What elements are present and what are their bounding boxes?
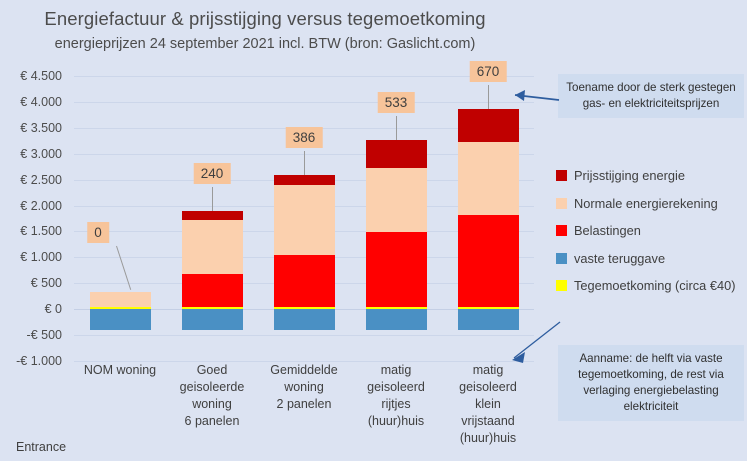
legend-swatch-icon — [556, 253, 567, 264]
x-axis-category-label: NOM woning — [68, 362, 172, 379]
y-axis-tick-label: € 3.000 — [20, 147, 62, 161]
y-axis-tick-label: € 3.500 — [20, 121, 62, 135]
y-axis-tick-label: € 2.500 — [20, 173, 62, 187]
x-axis-category-label: matiggeisoleerdkleinvrijstaand(huur)huis — [436, 362, 540, 447]
bar-segment — [182, 220, 243, 273]
x-axis-category-label: Gemiddeldewoning2 panelen — [252, 362, 356, 413]
bar-column — [90, 76, 151, 361]
y-axis-tick-label: € 4.500 — [20, 69, 62, 83]
category-label-line: 6 panelen — [160, 413, 264, 430]
category-label-line: geisoleerd — [436, 379, 540, 396]
y-axis-tick-label: € 4.000 — [20, 95, 62, 109]
bar-series-area — [74, 76, 534, 361]
legend-item[interactable]: Belastingen — [556, 223, 746, 238]
chart-subtitle: energieprijzen 24 september 2021 incl. B… — [0, 36, 530, 52]
data-label-callout: 240 — [194, 163, 231, 184]
legend-item-label: Normale energierekening — [574, 196, 718, 211]
legend-swatch-icon — [556, 280, 567, 291]
y-axis-labels: € 4.500€ 4.000€ 3.500€ 3.000€ 2.500€ 2.0… — [0, 76, 70, 361]
legend-swatch-icon — [556, 225, 567, 236]
bar-segment — [274, 175, 335, 185]
legend-item[interactable]: vaste teruggave — [556, 251, 746, 266]
bar-segment — [182, 309, 243, 330]
bar-segment — [182, 211, 243, 220]
x-axis-category-label: Goedgeisoleerdewoning6 panelen — [160, 362, 264, 430]
y-axis-tick-label: € 1.000 — [20, 250, 62, 264]
category-label-line: geisoleerd — [344, 379, 448, 396]
bar-segment — [458, 307, 519, 309]
category-label-line: klein — [436, 396, 540, 413]
category-label-line: NOM woning — [68, 362, 172, 379]
legend-swatch-icon — [556, 170, 567, 181]
bar-segment — [90, 309, 151, 330]
bar-segment — [90, 307, 151, 309]
bar-segment — [458, 109, 519, 142]
bar-column — [274, 76, 335, 361]
y-axis-tick-label: € 1.500 — [20, 224, 62, 238]
category-label-line: Gemiddelde — [252, 362, 356, 379]
category-label-line: (huur)huis — [344, 413, 448, 430]
legend-item[interactable]: Tegemoetkoming (circa €40) — [556, 278, 746, 293]
bar-segment — [90, 292, 151, 307]
bar-segment — [366, 309, 427, 330]
bar-segment — [366, 307, 427, 309]
callout-leader-line — [304, 151, 305, 175]
category-label-line: 2 panelen — [252, 396, 356, 413]
chart-legend: Prijsstijging energieNormale energiereke… — [556, 168, 746, 306]
callout-leader-line — [396, 116, 397, 140]
bar-segment — [274, 307, 335, 309]
bar-column — [182, 76, 243, 361]
category-label-line: geisoleerde — [160, 379, 264, 396]
legend-item-label: vaste teruggave — [574, 251, 665, 266]
data-label-callout: 386 — [286, 127, 323, 148]
bar-segment — [182, 307, 243, 309]
annotation-bottom: Aanname: de helft via vaste tegemoetkomi… — [558, 345, 744, 421]
data-label-callout: 533 — [378, 92, 415, 113]
category-label-line: rijtjes — [344, 396, 448, 413]
bar-segment — [458, 142, 519, 215]
bar-segment — [182, 274, 243, 307]
legend-item[interactable]: Normale energierekening — [556, 196, 746, 211]
annotation-top: Toename door de sterk gestegen gas- en e… — [558, 74, 744, 118]
arrow-top-icon — [505, 86, 561, 108]
callout-leader-line — [212, 187, 213, 211]
bar-segment — [366, 232, 427, 307]
data-label-callout: 0 — [87, 222, 109, 243]
bar-column — [458, 76, 519, 361]
entrance-label: Entrance — [16, 440, 66, 454]
category-label-line: woning — [252, 379, 356, 396]
arrow-bottom-icon — [500, 320, 562, 365]
category-label-line: Goed — [160, 362, 264, 379]
bar-segment — [274, 309, 335, 330]
y-axis-tick-label: -€ 500 — [27, 328, 62, 342]
category-label-line: matig — [344, 362, 448, 379]
y-axis-tick-label: -€ 1.000 — [16, 354, 62, 368]
legend-item[interactable]: Prijsstijging energie — [556, 168, 746, 183]
legend-item-label: Tegemoetkoming (circa €40) — [574, 278, 735, 293]
bar-segment — [366, 140, 427, 168]
category-label-line: vrijstaand — [436, 413, 540, 430]
legend-swatch-icon — [556, 198, 567, 209]
bar-segment — [274, 185, 335, 255]
legend-item-label: Prijsstijging energie — [574, 168, 685, 183]
bar-segment — [458, 215, 519, 307]
x-axis-category-label: matiggeisoleerdrijtjes(huur)huis — [344, 362, 448, 430]
bar-segment — [366, 168, 427, 232]
category-label-line: (huur)huis — [436, 430, 540, 447]
callout-leader-line — [488, 85, 489, 109]
y-axis-tick-label: € 0 — [45, 302, 62, 316]
chart-title: Energiefactuur & prijsstijging versus te… — [0, 8, 530, 30]
y-axis-tick-label: € 2.000 — [20, 199, 62, 213]
data-label-callout: 670 — [470, 61, 507, 82]
category-label-line: woning — [160, 396, 264, 413]
y-axis-tick-label: € 500 — [31, 276, 62, 290]
bar-segment — [274, 255, 335, 307]
legend-item-label: Belastingen — [574, 223, 641, 238]
